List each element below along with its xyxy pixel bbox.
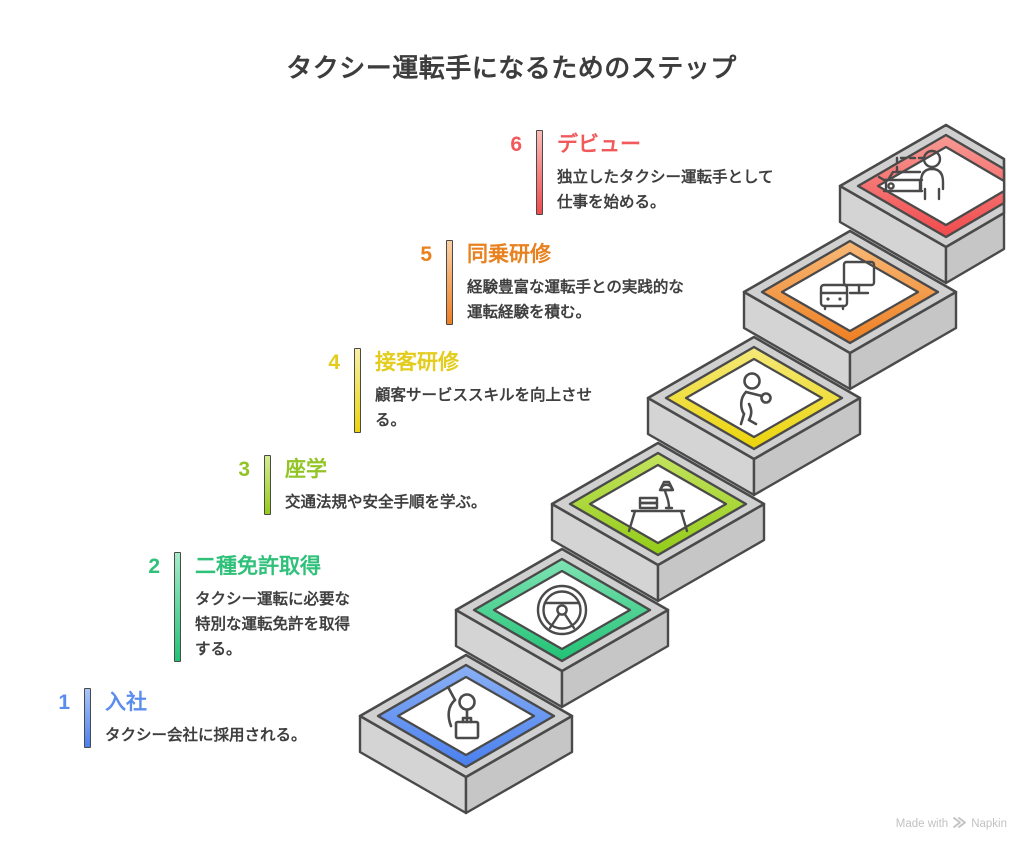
step-accent-bar-3	[264, 455, 271, 515]
step-label-6: 6 デビュー 独立したタクシー運転手として仕事を始める。	[478, 130, 788, 215]
step-text-1: 入社 タクシー会社に採用される。	[91, 688, 346, 748]
step-text-3: 座学 交通法規や安全手順を学ぶ。	[271, 455, 516, 515]
step-accent-bar-2	[174, 552, 181, 662]
step-title-6: デビュー	[557, 130, 788, 160]
step-text-2: 二種免許取得 タクシー運転に必要な特別な運転免許を取得する。	[181, 552, 426, 662]
step-description-6: 独立したタクシー運転手として仕事を始める。	[557, 165, 788, 215]
watermark-made-with-label: Made with	[896, 818, 948, 830]
step-label-3: 3 座学 交通法規や安全手順を学ぶ。	[206, 455, 516, 515]
watermark-brand-label: Napkin	[971, 818, 1007, 830]
step-label-2: 2 二種免許取得 タクシー運転に必要な特別な運転免許を取得する。	[116, 552, 426, 662]
step-number-4: 4	[296, 348, 354, 378]
step-number-5: 5	[388, 240, 446, 270]
napkin-logo-icon	[953, 817, 966, 830]
step-title-4: 接客研修	[375, 348, 606, 378]
step-number-2: 2	[116, 552, 174, 582]
step-description-4: 顧客サービススキルを向上させる。	[375, 383, 606, 433]
step-title-1: 入社	[105, 688, 346, 718]
step-text-5: 同乗研修 経験豊富な運転手との実践的な運転経験を積む。	[453, 240, 698, 325]
step-description-1: タクシー会社に採用される。	[105, 723, 337, 748]
watermark: Made with Napkin	[896, 817, 1007, 830]
step-text-6: デビュー 独立したタクシー運転手として仕事を始める。	[543, 130, 788, 215]
step-description-3: 交通法規や安全手順を学ぶ。	[285, 490, 516, 515]
step-label-5: 5 同乗研修 経験豊富な運転手との実践的な運転経験を積む。	[388, 240, 698, 325]
step-accent-bar-6	[536, 130, 543, 215]
step-title-2: 二種免許取得	[195, 552, 426, 582]
step-title-5: 同乗研修	[467, 240, 698, 270]
step-description-2: タクシー運転に必要な特別な運転免許を取得する。	[195, 587, 353, 662]
step-title-3: 座学	[285, 455, 516, 485]
step-label-4: 4 接客研修 顧客サービススキルを向上させる。	[296, 348, 606, 433]
step-label-1: 1 入社 タクシー会社に採用される。	[26, 688, 346, 748]
step-accent-bar-1	[84, 688, 91, 748]
step-accent-bar-5	[446, 240, 453, 325]
step-description-5: 経験豊富な運転手との実践的な運転経験を積む。	[467, 275, 698, 325]
step-number-3: 3	[206, 455, 264, 485]
step-accent-bar-4	[354, 348, 361, 433]
step-text-4: 接客研修 顧客サービススキルを向上させる。	[361, 348, 606, 433]
step-number-1: 1	[26, 688, 84, 718]
step-number-6: 6	[478, 130, 536, 160]
